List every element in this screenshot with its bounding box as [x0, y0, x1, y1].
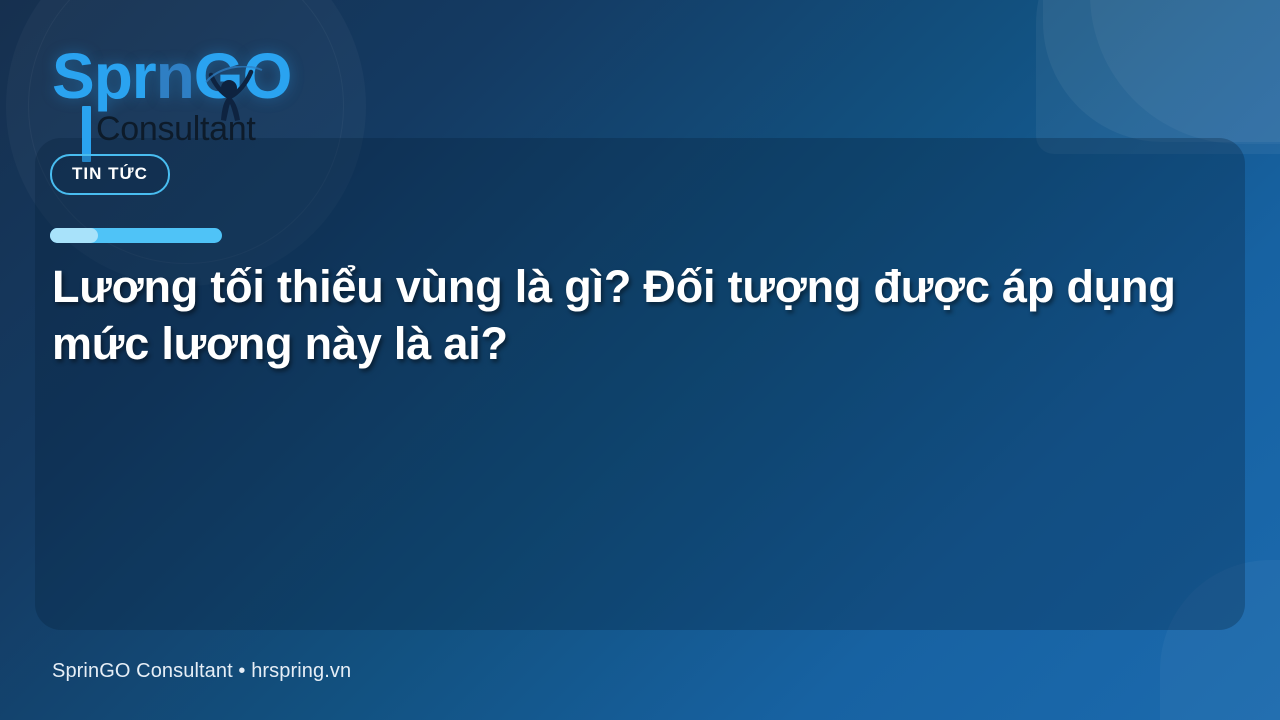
accent-progress-bar: [50, 228, 222, 243]
slide-canvas: SprnGO Consultant TIN TỨC Lương tối thiể…: [0, 0, 1280, 720]
page-title: Lương tối thiểu vùng là gì? Đối tượng đư…: [52, 258, 1202, 372]
brand-logo-mid: n: [156, 40, 194, 112]
footer-attribution: SprinGO Consultant • hrspring.vn: [52, 660, 351, 683]
content-card: [35, 138, 1245, 630]
brand-logo-primary: Spr: [52, 40, 156, 112]
category-badge: TIN TỨC: [50, 154, 170, 195]
brand-logo: SprnGO Consultant: [52, 44, 352, 144]
brand-logo-subtitle: Consultant: [96, 112, 256, 146]
